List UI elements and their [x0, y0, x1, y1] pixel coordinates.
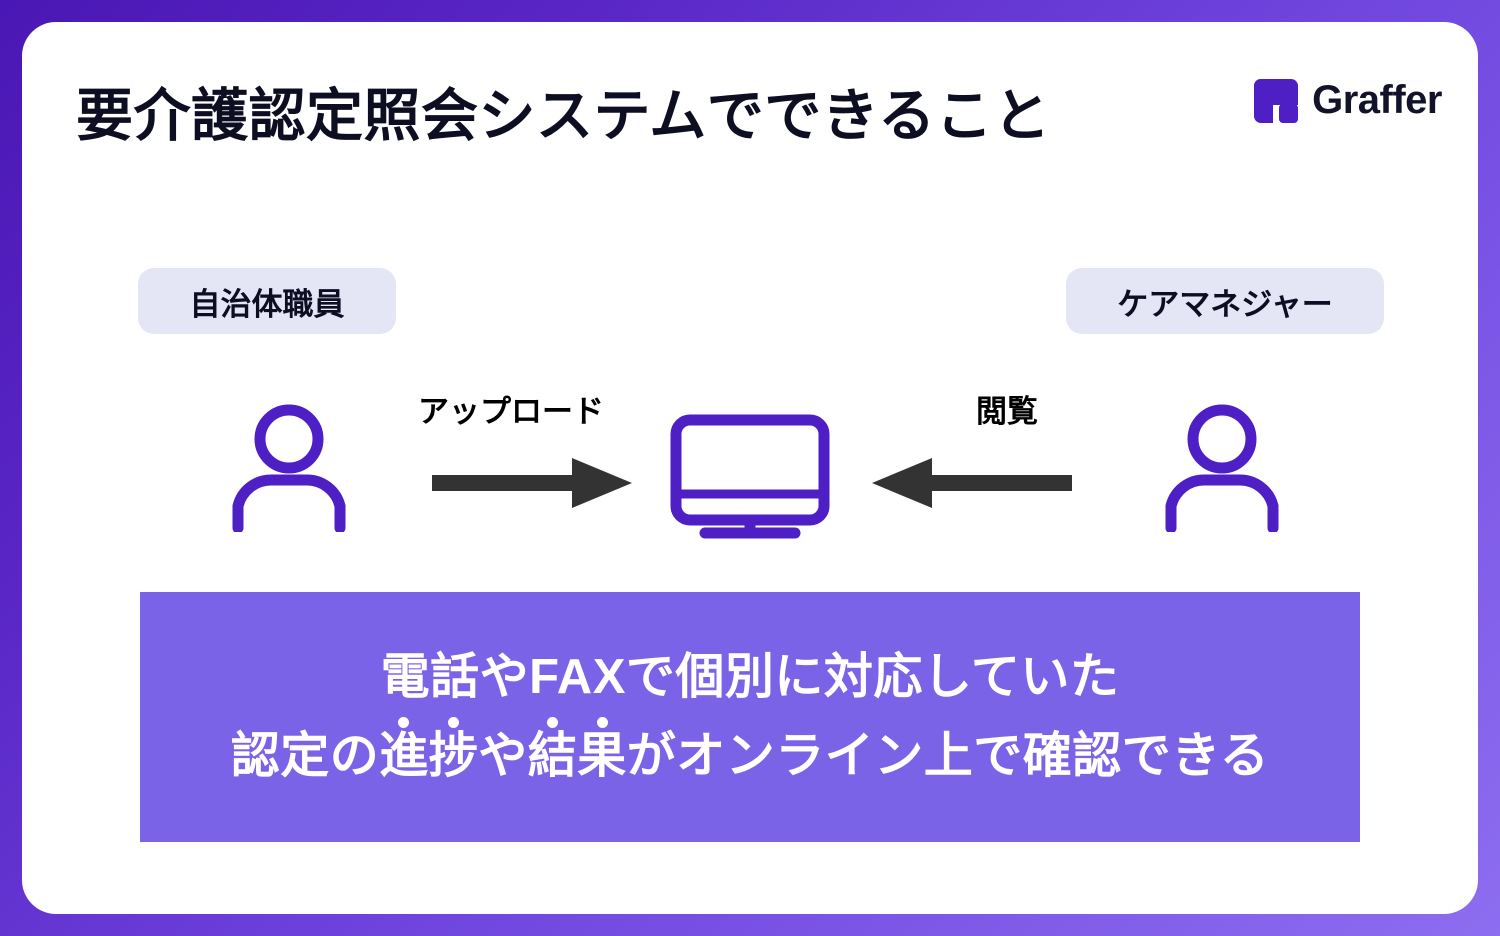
graffer-logo: Graffer: [1254, 78, 1442, 123]
banner-line-1: 電話やFAXで個別に対応していた: [381, 652, 1120, 703]
person-icon-municipal-staff: [229, 402, 349, 532]
graffer-logo-text: Graffer: [1312, 78, 1442, 123]
flow-label-upload: アップロード: [418, 386, 604, 431]
banner-text-run: 認定の: [231, 717, 380, 782]
banner-text-run: がオンライン上で確認できる: [627, 717, 1270, 782]
emphasized-char: 果: [577, 717, 627, 782]
emphasis-dot-icon: [597, 717, 608, 728]
flow-diagram: 自治体職員 ケアマネジャー アップロード: [22, 232, 1478, 562]
emphasis-dot-icon: [448, 717, 459, 728]
arrow-left-icon: [872, 456, 1072, 510]
flow-label-view: 閲覧: [976, 386, 1038, 431]
emphasis-dot-icon: [398, 717, 409, 728]
emphasized-char: 捗: [429, 717, 479, 782]
page-title: 要介護認定照会システムでできること: [76, 70, 1051, 152]
arrow-right-icon: [432, 456, 632, 510]
emphasized-char: 結: [528, 717, 578, 782]
header: 要介護認定照会システムでできること Graffer: [22, 22, 1478, 202]
graffer-logo-mark-icon: [1254, 79, 1298, 123]
actor-pill-care-manager: ケアマネジャー: [1066, 268, 1384, 334]
emphasis-dot-icon: [547, 717, 558, 728]
main-card: 要介護認定照会システムでできること Graffer 自治体職員 ケアマネジャー: [22, 22, 1478, 914]
actor-pill-municipal-staff: 自治体職員: [138, 268, 396, 334]
highlight-banner: 電話やFAXで個別に対応していた 認定の進捗や結果がオンライン上で確認できる: [140, 592, 1360, 842]
monitor-icon: [670, 414, 830, 539]
banner-text-run: や: [478, 717, 528, 782]
banner-line-2: 認定の進捗や結果がオンライン上で確認できる: [231, 717, 1270, 782]
person-icon-care-manager: [1162, 402, 1282, 532]
emphasized-char: 進: [379, 717, 429, 782]
